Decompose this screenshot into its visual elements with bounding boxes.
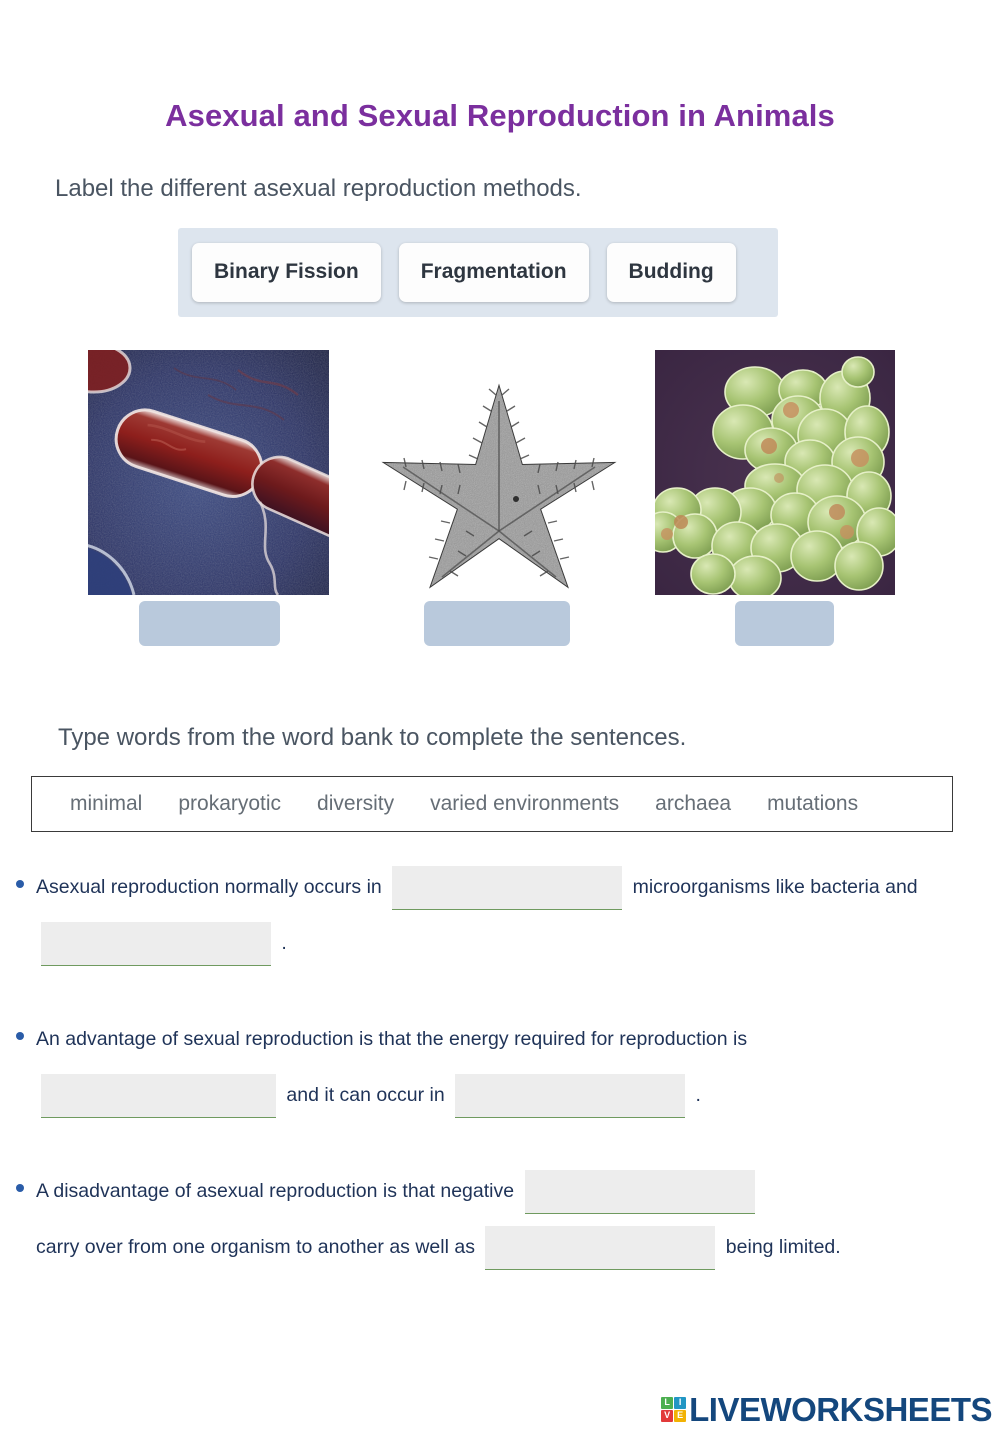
logo-wordmark: LIVEWORKSHEETS	[689, 1393, 992, 1426]
logo-tile-v: V	[661, 1410, 673, 1422]
sentence-text: being limited.	[726, 1236, 841, 1258]
bullet-icon	[16, 880, 24, 888]
sentence-text: .	[696, 1084, 701, 1106]
yeast-budding-image	[655, 350, 895, 595]
word-bank-item-minimal: minimal	[70, 792, 142, 816]
instruction-label-sentences: Type words from the word bank to complet…	[58, 724, 686, 752]
word-bank-item-prokaryotic: prokaryotic	[178, 792, 281, 816]
sentence-list: Asexual reproduction normally occurs in …	[12, 859, 972, 1315]
answer-input-1b[interactable]	[41, 922, 271, 966]
word-card-tray: Binary Fission Fragmentation Budding	[178, 228, 778, 317]
word-bank-item-diversity: diversity	[317, 792, 394, 816]
bullet-icon	[16, 1032, 24, 1040]
sentence-text: carry over from one organism to another …	[36, 1236, 475, 1258]
logo-tile-i: I	[674, 1397, 686, 1409]
word-card-label: Budding	[629, 260, 714, 284]
page-title: Asexual and Sexual Reproduction in Anima…	[0, 21, 1000, 133]
instruction-label-images: Label the different asexual reproduction…	[55, 175, 1000, 203]
word-card-fragmentation[interactable]: Fragmentation	[399, 243, 589, 302]
answer-input-2b[interactable]	[455, 1074, 685, 1118]
answer-input-1a[interactable]	[392, 866, 622, 910]
logo-tile-l: L	[661, 1397, 673, 1409]
word-bank: minimal prokaryotic diversity varied env…	[31, 776, 953, 832]
dropzone-image-2[interactable]	[424, 601, 570, 646]
sentence-text: .	[281, 932, 286, 954]
sentence-text: An advantage of sexual reproduction is t…	[36, 1028, 747, 1050]
sentence-text: microorganisms like bacteria and	[633, 876, 918, 898]
word-card-label: Binary Fission	[214, 260, 359, 284]
bullet-icon	[16, 1184, 24, 1192]
word-card-budding[interactable]: Budding	[607, 243, 736, 302]
bacteria-binary-fission-image	[88, 350, 329, 595]
images-row	[0, 350, 1000, 600]
word-card-label: Fragmentation	[421, 260, 567, 284]
dropzone-image-3[interactable]	[735, 601, 834, 646]
logo-tile-e: E	[674, 1410, 686, 1422]
sentence-text: Asexual reproduction normally occurs in	[36, 876, 382, 898]
sentence-item-2: An advantage of sexual reproduction is t…	[12, 1011, 972, 1123]
word-card-binary-fission[interactable]: Binary Fission	[192, 243, 381, 302]
sentence-text: and it can occur in	[286, 1084, 444, 1106]
word-bank-item-mutations: mutations	[767, 792, 858, 816]
starfish-fragmentation-image	[370, 381, 628, 595]
word-bank-item-varied-environments: varied environments	[430, 792, 619, 816]
liveworksheets-logo[interactable]: L I V E LIVEWORKSHEETS	[661, 1393, 992, 1426]
logo-tiles-icon: L I V E	[661, 1397, 686, 1422]
answer-input-3a[interactable]	[525, 1170, 755, 1214]
dropzone-image-1[interactable]	[139, 601, 280, 646]
sentence-item-3: A disadvantage of asexual reproduction i…	[12, 1163, 972, 1275]
answer-input-3b[interactable]	[485, 1226, 715, 1270]
sentence-item-1: Asexual reproduction normally occurs in …	[12, 859, 972, 971]
word-bank-item-archaea: archaea	[655, 792, 731, 816]
answer-input-2a[interactable]	[41, 1074, 276, 1118]
sentence-text: A disadvantage of asexual reproduction i…	[36, 1180, 514, 1202]
